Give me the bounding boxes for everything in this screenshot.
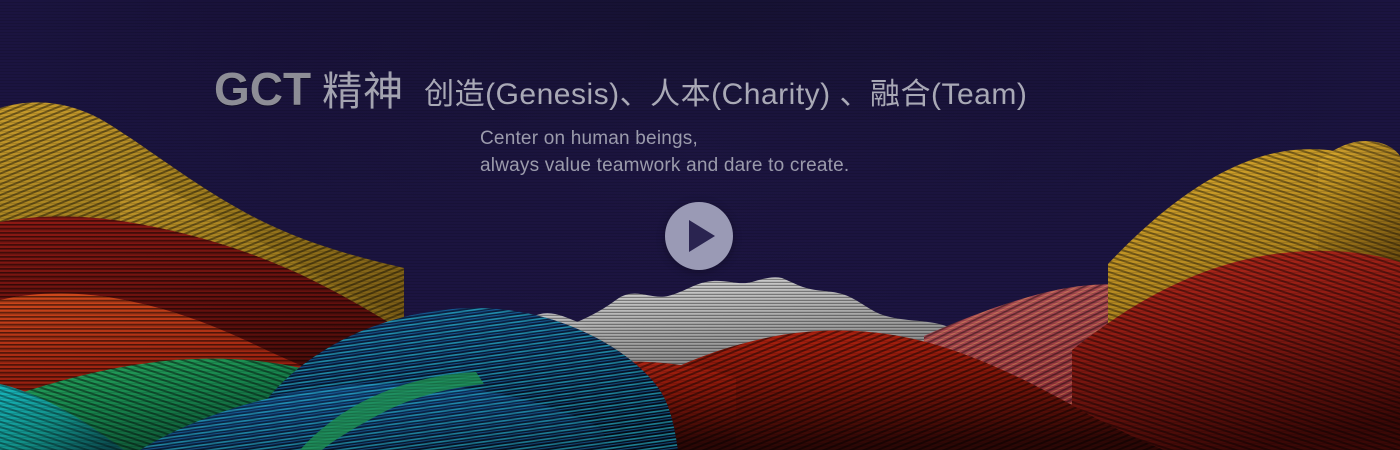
slogan-chinese: 创造(Genesis)、人本(Charity) 、融合(Team) bbox=[424, 80, 1027, 110]
slogan-english-line-1: Center on human beings, bbox=[480, 126, 849, 153]
headline: GCT 精神 创造(Genesis)、人本(Charity) 、融合(Team) bbox=[214, 66, 1027, 112]
slogan-english-line-2: always value teamwork and dare to create… bbox=[480, 153, 849, 180]
brand-logo-gct: GCT bbox=[214, 66, 311, 112]
play-video-button[interactable] bbox=[665, 202, 733, 270]
play-triangle-icon bbox=[689, 220, 715, 252]
slogan-english: Center on human beings, always value tea… bbox=[480, 126, 849, 180]
brand-subtitle-cn: 精神 bbox=[322, 72, 404, 112]
hero-banner: GCT 精神 创造(Genesis)、人本(Charity) 、融合(Team)… bbox=[0, 0, 1400, 450]
